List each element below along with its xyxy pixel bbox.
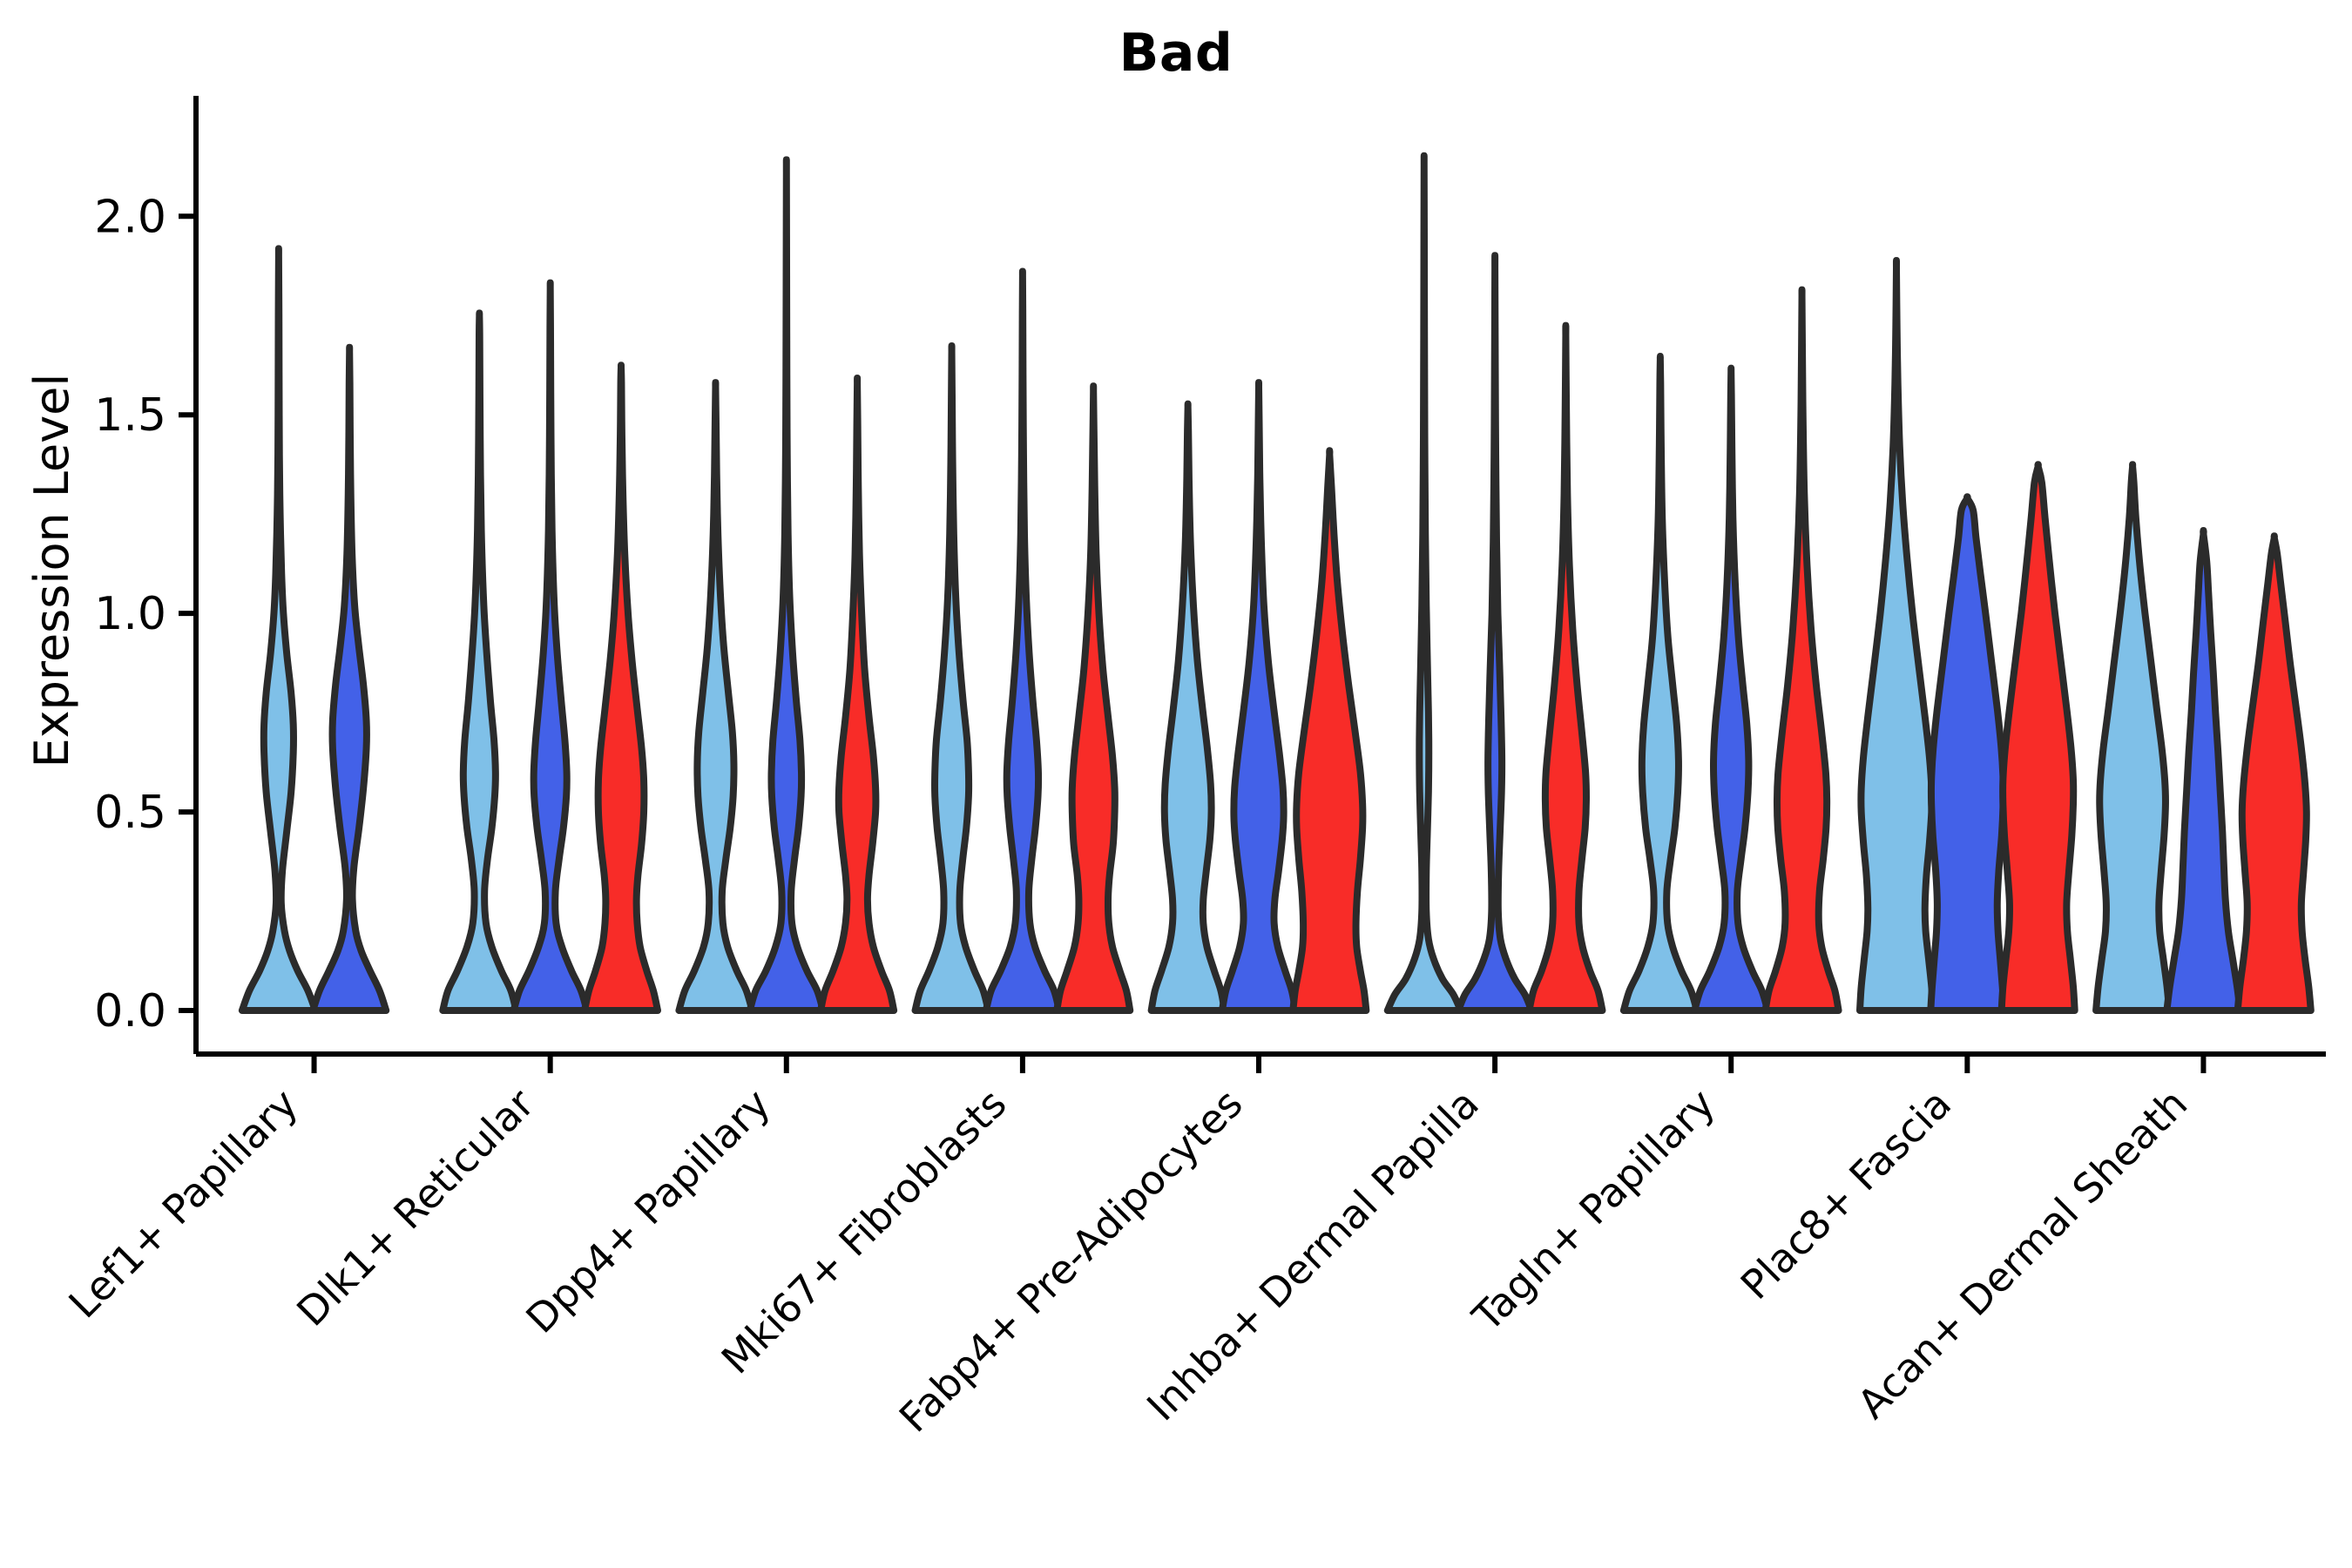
violin-group-1 — [2096, 464, 2169, 1010]
violin-group-2 — [1458, 255, 1531, 1010]
x-tick-label-dlk1-reticular: Dlk1+ Reticular — [287, 1080, 543, 1335]
violin-plot-figure: Bad 0.00.51.01.52.0 Lef1+ PapillaryDlk1+… — [0, 0, 2352, 1568]
violin-group-3 — [585, 365, 658, 1010]
x-tick-label-tagln-papillary: Tagln+ Papillary — [1463, 1080, 1724, 1342]
violin-group-1 — [916, 346, 989, 1010]
y-tick-label: 2.0 — [94, 191, 166, 243]
violin-group-2 — [750, 159, 823, 1010]
violin-group-1 — [1860, 260, 1933, 1010]
violin-group-3 — [1766, 290, 1839, 1010]
violin-group-3 — [821, 378, 894, 1010]
violin-group-1 — [1624, 356, 1697, 1010]
violin-group-1 — [242, 248, 315, 1010]
y-tick-labels: 0.00.51.01.52.0 — [94, 191, 166, 1037]
violin-group-2 — [1694, 368, 1767, 1010]
y-tick-label: 0.5 — [94, 787, 166, 839]
violin-group-2 — [514, 283, 587, 1010]
x-tick-labels: Lef1+ PapillaryDlk1+ ReticularDpp4+ Papi… — [59, 1080, 2196, 1442]
violin-group-2 — [1930, 497, 2004, 1010]
x-tick-label-plac8-fascia: Plac8+ Fascia — [1732, 1080, 1960, 1308]
x-tick-label-lef1-papillary: Lef1+ Papillary — [59, 1080, 307, 1328]
violin-group-2 — [313, 348, 386, 1010]
violin-group-3 — [2238, 536, 2311, 1010]
violin-group-1 — [1388, 156, 1461, 1010]
violin-group-2 — [1222, 382, 1295, 1010]
violin-group-2 — [2166, 531, 2240, 1010]
x-tick-label-dpp4-papillary: Dpp4+ Papillary — [517, 1080, 779, 1342]
violin-group-1 — [679, 382, 752, 1010]
violin-plot-canvas: 0.00.51.01.52.0 Lef1+ PapillaryDlk1+ Ret… — [0, 0, 2352, 1568]
y-tick-label: 1.0 — [94, 588, 166, 640]
violin-group-2 — [986, 272, 1059, 1010]
violin-group-3 — [1529, 326, 1602, 1010]
y-axis-label: Expression Level — [24, 374, 79, 768]
violins-layer — [242, 156, 2311, 1010]
violin-group-3 — [1293, 450, 1366, 1010]
y-axis-label-group: Expression Level — [24, 374, 79, 768]
y-tick-label: 0.0 — [94, 985, 166, 1037]
violin-group-1 — [1152, 404, 1225, 1010]
violin-group-3 — [1057, 386, 1130, 1010]
y-tick-label: 1.5 — [94, 389, 166, 442]
violin-group-3 — [2002, 464, 2075, 1010]
violin-group-1 — [443, 313, 516, 1010]
